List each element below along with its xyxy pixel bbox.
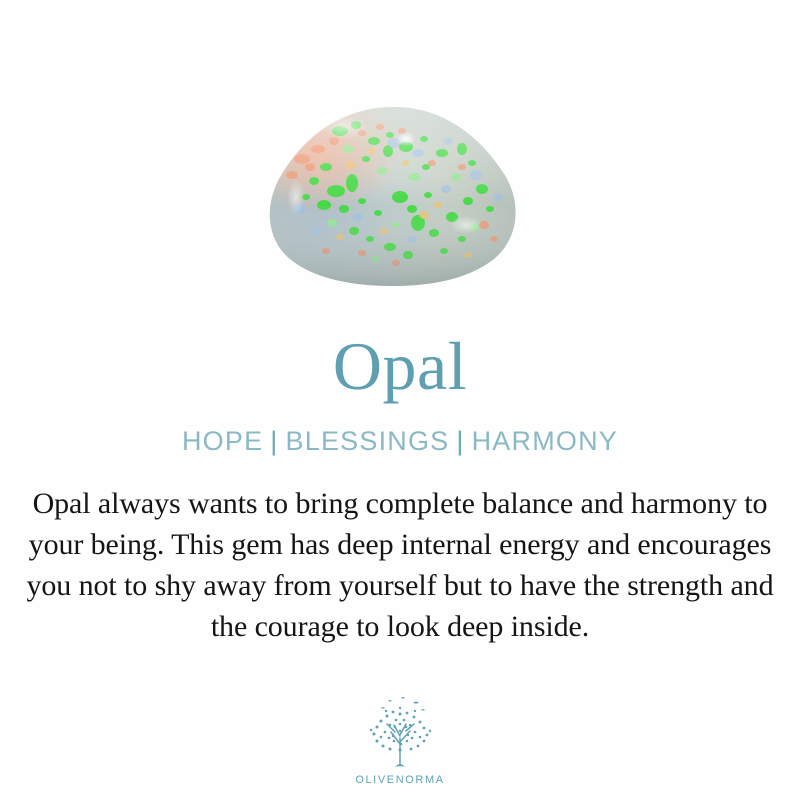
keyword-separator-1: | xyxy=(263,426,285,456)
olive-tree-icon xyxy=(357,694,443,772)
keyword-line: HOPE|BLESSINGS|HARMONY xyxy=(182,426,618,457)
gem-description: Opal always wants to bring complete bala… xyxy=(15,483,785,647)
keyword-hope: HOPE xyxy=(182,426,263,456)
keyword-blessings: BLESSINGS xyxy=(286,426,450,456)
page-title: Opal xyxy=(333,332,467,400)
brand-logo: OLIVENORMA xyxy=(0,694,800,786)
brand-name: OLIVENORMA xyxy=(355,774,444,786)
opal-gemstone-image xyxy=(266,105,522,287)
gem-image-stage xyxy=(0,0,800,300)
keyword-harmony: HARMONY xyxy=(472,426,618,456)
gemstone-info-card: Opal HOPE|BLESSINGS|HARMONY Opal always … xyxy=(0,0,800,800)
opal-cabochon-icon xyxy=(266,105,522,287)
keyword-separator-2: | xyxy=(449,426,471,456)
